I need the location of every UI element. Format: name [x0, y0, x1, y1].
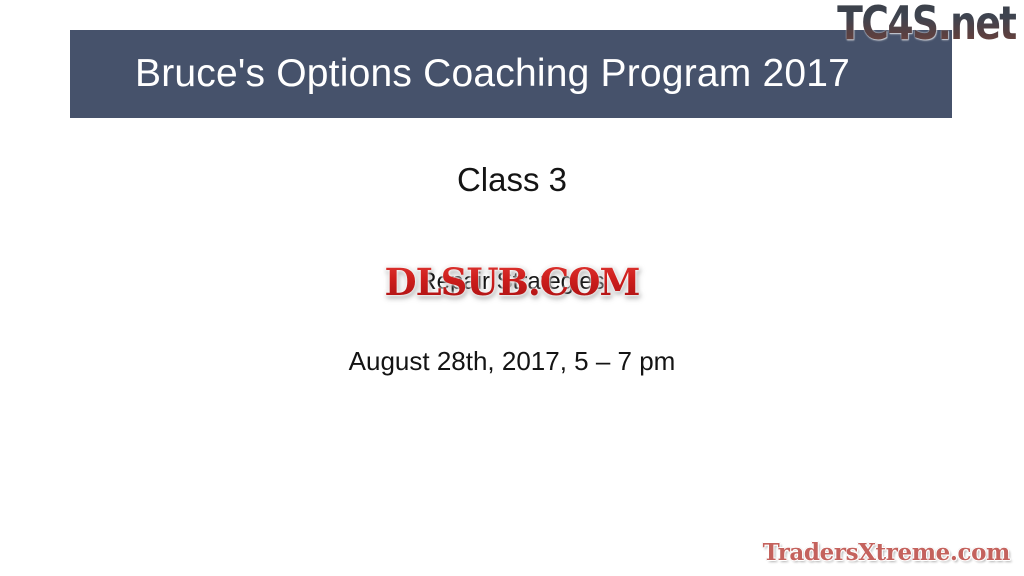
- slide-canvas: Bruce's Options Coaching Program 2017 Cl…: [0, 0, 1024, 576]
- date-label: August 28th, 2017, 5 – 7 pm: [0, 346, 1024, 377]
- subject-line-row: Repair Strategies DLSUB.COM: [0, 262, 1024, 302]
- page-title: Bruce's Options Coaching Program 2017: [135, 53, 850, 96]
- slide-title-bar: Bruce's Options Coaching Program 2017: [70, 30, 952, 118]
- class-label: Class 3: [0, 160, 1024, 200]
- tradersxtreme-watermark: TradersXtreme.com: [763, 539, 1010, 566]
- slide-body-block: Class 3 Repair Strategies DLSUB.COM Augu…: [0, 160, 1024, 377]
- subject-label: Repair Strategies: [0, 262, 1024, 302]
